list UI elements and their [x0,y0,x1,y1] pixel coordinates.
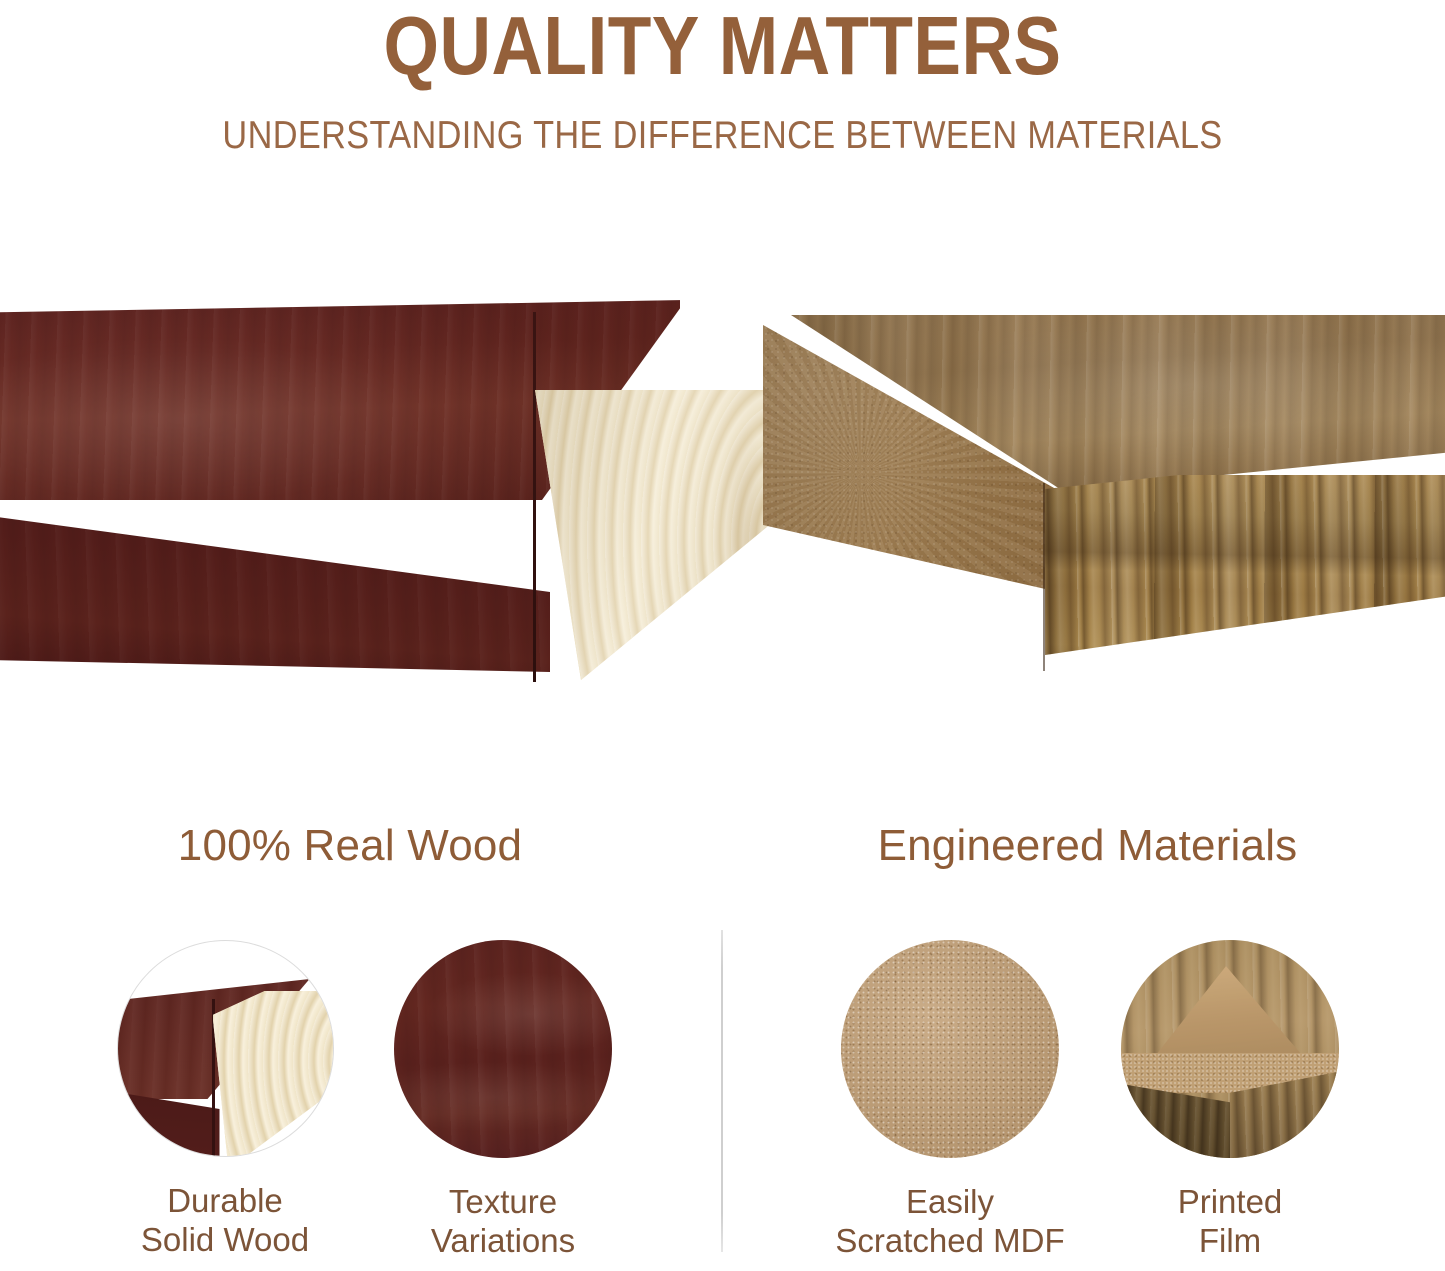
feature-texture-variations: Texture Variations [378,940,628,1260]
page-subtitle: UNDERSTANDING THE DIFFERENCE BETWEEN MAT… [87,113,1359,159]
mdf-particle-thumb [841,940,1059,1158]
feature-caption: Durable Solid Wood [100,1181,350,1259]
thumb-shelf-end-grain [213,991,334,1157]
header: QUALITY MATTERS UNDERSTANDING THE DIFFER… [0,0,1445,190]
feature-easily-scratched-mdf: Easily Scratched MDF [825,940,1075,1260]
feature-caption: Easily Scratched MDF [825,1182,1075,1260]
thumb-shelf-front [117,1091,220,1157]
solid-wood-corner-thumb [117,940,334,1157]
section-heading-engineered-materials: Engineered Materials [730,820,1445,872]
section-heading-real-wood: 100% Real Wood [0,820,700,872]
feature-printed-film: Printed Film [1105,940,1355,1260]
mdf-front-shadow-band [1045,475,1445,690]
shelf-corner-edge [533,312,536,682]
engineered-mdf-shelf-photo [745,315,1445,690]
shelf-front-face [0,497,550,672]
mahogany-grain-thumb [394,940,612,1158]
thumb-mahogany-grain-surface [394,940,612,1158]
feature-caption: Texture Variations [378,1182,628,1260]
vertical-divider [721,930,723,1252]
mdf-corner-seam [1043,483,1045,671]
page-title: QUALITY MATTERS [101,0,1344,94]
peeling-printed-film-thumb [1121,940,1339,1158]
thumb-mdf-particle-surface [841,940,1059,1158]
feature-caption: Printed Film [1105,1182,1355,1260]
feature-durable-solid-wood: Durable Solid Wood [100,940,350,1259]
hero-comparison-images [0,270,1445,710]
solid-wood-shelf-photo [0,300,700,690]
